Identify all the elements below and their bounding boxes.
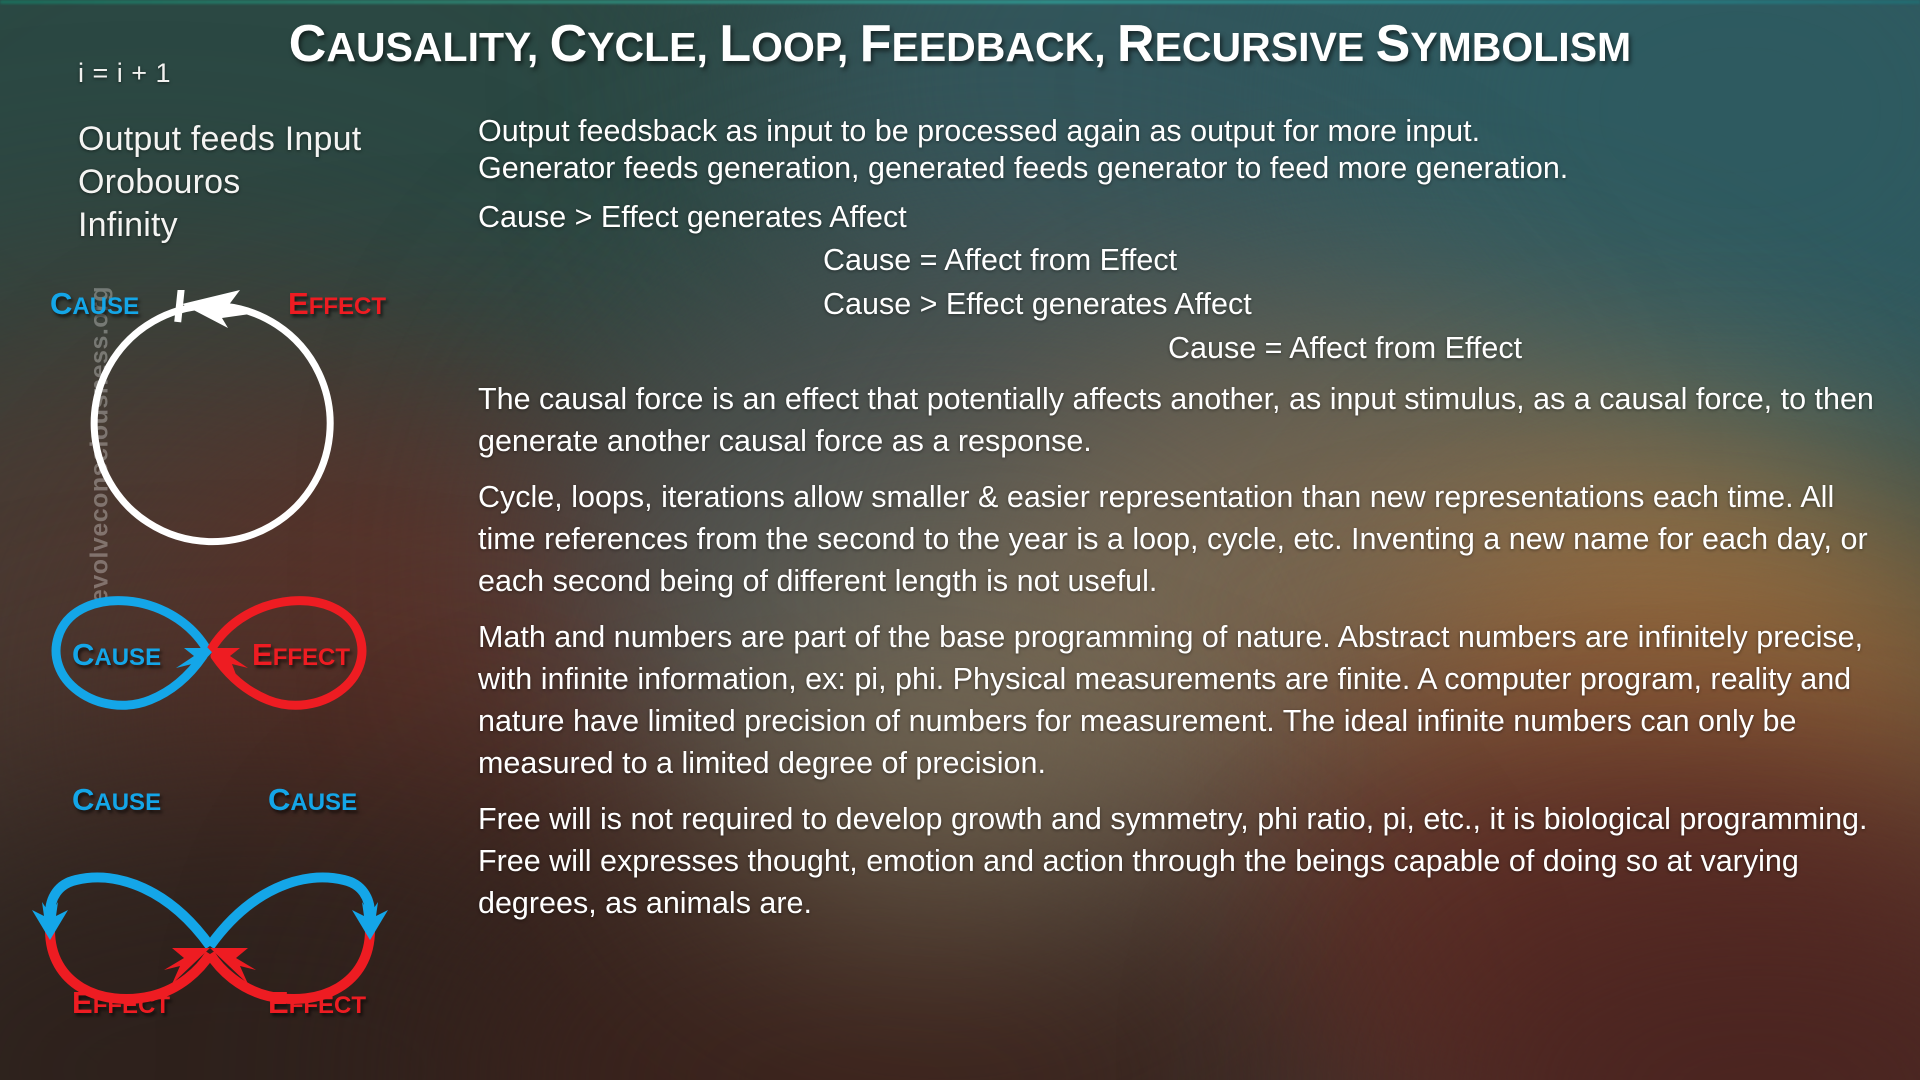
intro-line-0: Output feedsback as input to be processe… xyxy=(478,110,1878,152)
title-part-2: LOOP, xyxy=(719,48,859,65)
title-rest: OOP, xyxy=(751,24,860,70)
label-rest: AUSE xyxy=(94,789,161,816)
title-cap: L xyxy=(719,15,751,73)
paragraph-1: Cycle, loops, iterations allow smaller &… xyxy=(478,476,1878,602)
title-cap: C xyxy=(289,15,327,73)
title-part-5: SYMBOLISM xyxy=(1376,48,1632,65)
label-cap: C xyxy=(268,782,290,817)
sidebar-line-2: Infinity xyxy=(78,206,178,245)
infinity-cause-effect-diagram xyxy=(20,580,400,720)
equation-2: Cause > Effect generates Affect xyxy=(823,283,1252,325)
title-rest: YMBOLISM xyxy=(1410,24,1631,70)
page-title: CAUSALITY, CYCLE, LOOP, FEEDBACK, RECURS… xyxy=(0,14,1920,74)
title-part-1: CYCLE, xyxy=(550,48,720,65)
paragraph-2: Math and numbers are part of the base pr… xyxy=(478,616,1878,784)
title-rest: ECURSIVE xyxy=(1155,24,1376,70)
title-cap: S xyxy=(1376,15,1411,73)
equation-1: Cause = Affect from Effect xyxy=(823,239,1177,281)
infinity2-top-left-label: CAUSE xyxy=(72,782,161,818)
title-rest: AUSALITY, xyxy=(326,24,549,70)
left-sidebar: i = i + 1 Output feeds Input Orobouros I… xyxy=(0,0,470,1080)
main-content: Output feedsback as input to be processe… xyxy=(478,0,1920,1080)
infinity2-top-right-label: CAUSE xyxy=(268,782,357,818)
title-part-4: RECURSIVE xyxy=(1117,48,1376,65)
title-cap: C xyxy=(550,15,588,73)
sidebar-line-0: Output feeds Input xyxy=(78,120,361,159)
ouroboros-cycle-diagram xyxy=(60,290,360,580)
equation-3: Cause = Affect from Effect xyxy=(1168,327,1522,369)
title-rest: YCLE, xyxy=(587,24,719,70)
title-rest: EEDBACK, xyxy=(891,24,1117,70)
title-cap: R xyxy=(1117,15,1155,73)
label-cap: C xyxy=(72,782,94,817)
label-rest: AUSE xyxy=(290,789,357,816)
paragraph-0: The causal force is an effect that poten… xyxy=(478,378,1878,462)
paragraph-3: Free will is not required to develop gro… xyxy=(478,798,1878,924)
sidebar-line-1: Orobouros xyxy=(78,163,240,202)
title-part-0: CAUSALITY, xyxy=(289,48,550,65)
intro-line-1: Generator feeds generation, generated fe… xyxy=(478,147,1878,189)
infinity-double-cause-effect-diagram xyxy=(20,818,400,1018)
title-part-3: FEEDBACK, xyxy=(860,48,1117,65)
title-cap: F xyxy=(860,15,892,73)
equation-0: Cause > Effect generates Affect xyxy=(478,196,907,238)
